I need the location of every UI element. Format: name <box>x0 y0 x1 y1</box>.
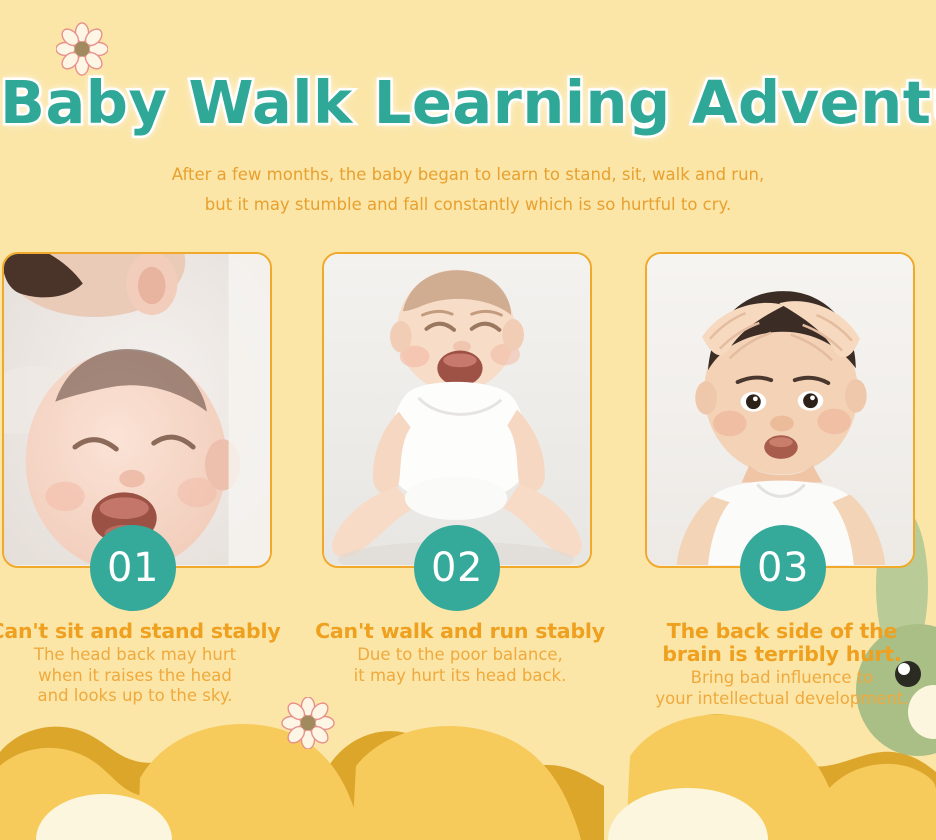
subtitle-line-1: After a few months, the baby began to le… <box>0 160 936 190</box>
caption-block-2: Can't walk and run stably Due to the poo… <box>295 620 625 686</box>
hill-dark-layer-right <box>660 714 936 840</box>
daisy-center <box>301 716 316 731</box>
caption-block-1: Can't sit and stand stably The head back… <box>0 620 300 707</box>
caption-body-1: The head back may hurt when it raises th… <box>0 645 300 707</box>
caption-heading-2: Can't walk and run stably <box>295 620 625 643</box>
toddler-holding-head-photo <box>647 254 913 565</box>
caption-body-2-line-1: Due to the poor balance, <box>357 645 563 664</box>
caption-body-3-line-1: Bring bad influence to <box>691 668 874 687</box>
hill-cream-blob-left <box>36 794 172 840</box>
caption-block-3: The back side of the brain is terribly h… <box>617 620 936 709</box>
hill-cream-blob-right <box>608 788 768 840</box>
hill-light-layer-center <box>138 724 364 840</box>
page-subtitle: After a few months, the baby began to le… <box>0 160 936 220</box>
step-badge-1: 01 <box>90 525 176 611</box>
photo-card-3[interactable] <box>645 252 915 568</box>
caption-body-1-line-1: The head back may hurt <box>34 645 236 664</box>
page-title: Baby Walk Learning Adventures <box>0 72 936 134</box>
caption-heading-3: The back side of the brain is terribly h… <box>617 620 936 666</box>
caption-body-3: Bring bad influence to your intellectual… <box>617 668 936 709</box>
crying-baby-lying-down-photo <box>4 254 270 565</box>
caption-heading-3-line-2: brain is terribly hurt. <box>662 642 901 666</box>
hill-light-layer-far-right <box>820 764 936 840</box>
hill-dark-layer <box>0 727 272 840</box>
hill-dark-layer-mid <box>330 731 604 840</box>
caption-body-1-line-2: when it raises the head <box>38 666 232 685</box>
caption-body-3-line-2: your intellectual development. <box>655 689 908 708</box>
subtitle-line-2: but it may stumble and fall constantly w… <box>0 190 936 220</box>
hill-light-layer-left <box>0 748 240 840</box>
daisy-center <box>75 42 90 57</box>
caption-heading-1: Can't sit and stand stably <box>0 620 300 643</box>
photo-card-row <box>0 252 936 572</box>
caption-body-1-line-3: and looks up to the sky. <box>38 686 233 705</box>
crying-baby-sitting-photo <box>324 254 590 565</box>
step-badge-2: 02 <box>414 525 500 611</box>
photo-card-2[interactable] <box>322 252 592 568</box>
caption-body-2: Due to the poor balance, it may hurt its… <box>295 645 625 686</box>
rolling-hills-decoration <box>0 700 936 840</box>
caption-body-2-line-2: it may hurt its head back. <box>354 666 567 685</box>
poster-canvas: Baby Walk Learning Adventures After a fe… <box>0 0 936 840</box>
step-badge-3: 03 <box>740 525 826 611</box>
caption-heading-3-line-1: The back side of the <box>667 619 897 643</box>
photo-card-1[interactable] <box>2 252 272 568</box>
hill-light-layer-center2 <box>352 726 581 840</box>
hill-light-layer-right <box>626 715 844 840</box>
